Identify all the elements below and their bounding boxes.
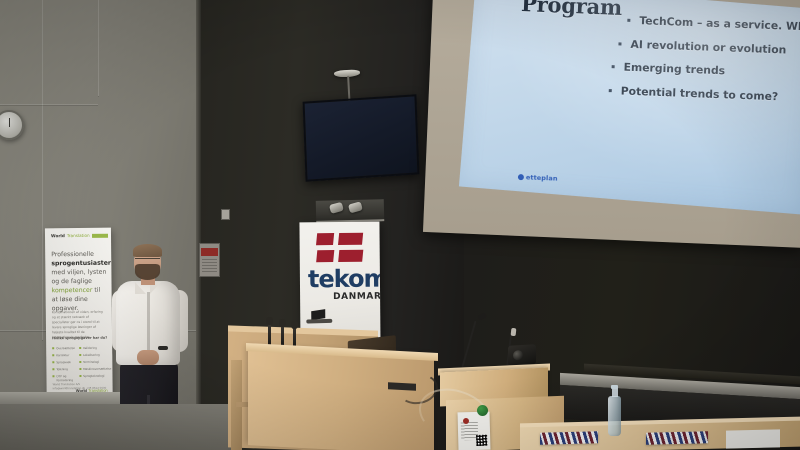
flag-quadrant: [316, 233, 334, 245]
slide-bullet-list: TechCom – as a service. Why? AI revoluti…: [610, 13, 800, 114]
rollup-service-item: Tolkning: [52, 367, 75, 371]
presentation-room-screenshot: Program TechCom – as a service. Why? AI …: [0, 0, 800, 450]
flag-quadrant: [338, 250, 363, 262]
slide-title: Program: [521, 0, 623, 20]
banner-lower-bar: [306, 319, 332, 324]
rollup-logo-primary: World: [51, 233, 65, 238]
rollup-service-item: Sprogvask: [52, 360, 75, 364]
wall-mounted-display: [303, 94, 420, 181]
water-bottle-icon[interactable]: [608, 396, 621, 436]
spotlight-icon: [329, 202, 344, 214]
wall-corner-edge: [196, 0, 201, 450]
rollup-service-item: Korrektur: [52, 353, 75, 357]
rollup-service-item: Oversættelse: [52, 346, 75, 350]
glasses-icon: [135, 258, 160, 263]
presenter-clasped-hands: [137, 350, 159, 365]
flag-quadrant: [316, 250, 334, 262]
rollup-headline-line2: sprogentusiaster: [51, 260, 111, 268]
rollup-headline: Professionelle sprogentusiaster med vilj…: [51, 250, 107, 314]
rollup-headline-line1: Professionelle: [51, 251, 94, 258]
red-marker-dot: [463, 418, 469, 424]
rollup-service-item: DTP og formatering: [52, 374, 75, 382]
rollup-headline-line5: kompetencer: [52, 287, 93, 294]
presenter-beard: [135, 264, 160, 280]
slide-bullet-item: Potential trends to come?: [609, 84, 800, 105]
floor: [0, 404, 240, 450]
rollup-service-list: Oversættelse Validering Korrektur Lokali…: [52, 346, 107, 383]
wristwatch-icon: [158, 346, 168, 350]
wall-seam: [42, 0, 43, 340]
rollup-logo-chip: [92, 233, 108, 237]
wall-seam: [0, 104, 98, 105]
rollup-logo: World Translation: [51, 233, 108, 239]
equipment-shelf: [316, 199, 385, 223]
etteplan-logo: etteplan: [518, 173, 558, 183]
projection-screen-frame: Program TechCom – as a service. Why? AI …: [423, 0, 800, 248]
qr-code-icon[interactable]: [476, 435, 487, 446]
tekom-subtitle: DANMARK: [333, 292, 381, 302]
microphone-icon: [291, 321, 298, 329]
slide-bullet-item: AI revolution or evolution: [618, 37, 800, 57]
white-paper-sheet[interactable]: [726, 429, 780, 448]
conference-camera-icon: [508, 344, 536, 365]
emergency-notice-sign: [199, 243, 220, 277]
danish-flag-icon: [317, 233, 363, 262]
handout-with-qr-code[interactable]: [458, 412, 491, 450]
green-marker-dot: [477, 405, 488, 416]
microphone-icon: [266, 317, 273, 325]
notice-text-lines: [202, 259, 217, 274]
wall-seam: [98, 0, 99, 96]
microphone-capsule-icon: [511, 328, 517, 336]
etteplan-mark-icon: [518, 174, 524, 180]
slide-bullet-item: Emerging trends: [611, 60, 800, 81]
brochure-stack[interactable]: [646, 431, 708, 445]
wall-clock-icon: [0, 110, 24, 140]
presenter-hair: [133, 244, 162, 257]
flag-quadrant: [338, 233, 363, 245]
notice-red-band: [201, 248, 218, 256]
light-switch[interactable]: [221, 209, 230, 220]
brochure-stack[interactable]: [540, 431, 598, 444]
rollup-headline-line4: og de faglige: [51, 278, 92, 285]
wall-baseboard: [0, 392, 120, 404]
spotlight-icon: [348, 201, 363, 213]
rollup-subheading: Hvilke sprogopgaver har du?: [52, 336, 107, 341]
rollup-logo-secondary: Translation: [67, 233, 90, 238]
slide-bullet-item: TechCom – as a service. Why?: [627, 14, 800, 34]
microphone-icon: [279, 319, 286, 327]
projected-slide: Program TechCom – as a service. Why? AI …: [459, 0, 800, 215]
rollup-headline-line3: med viljen, lysten: [51, 269, 106, 277]
tekom-wordmark: tekom: [308, 267, 381, 292]
etteplan-wordmark: etteplan: [526, 173, 558, 182]
